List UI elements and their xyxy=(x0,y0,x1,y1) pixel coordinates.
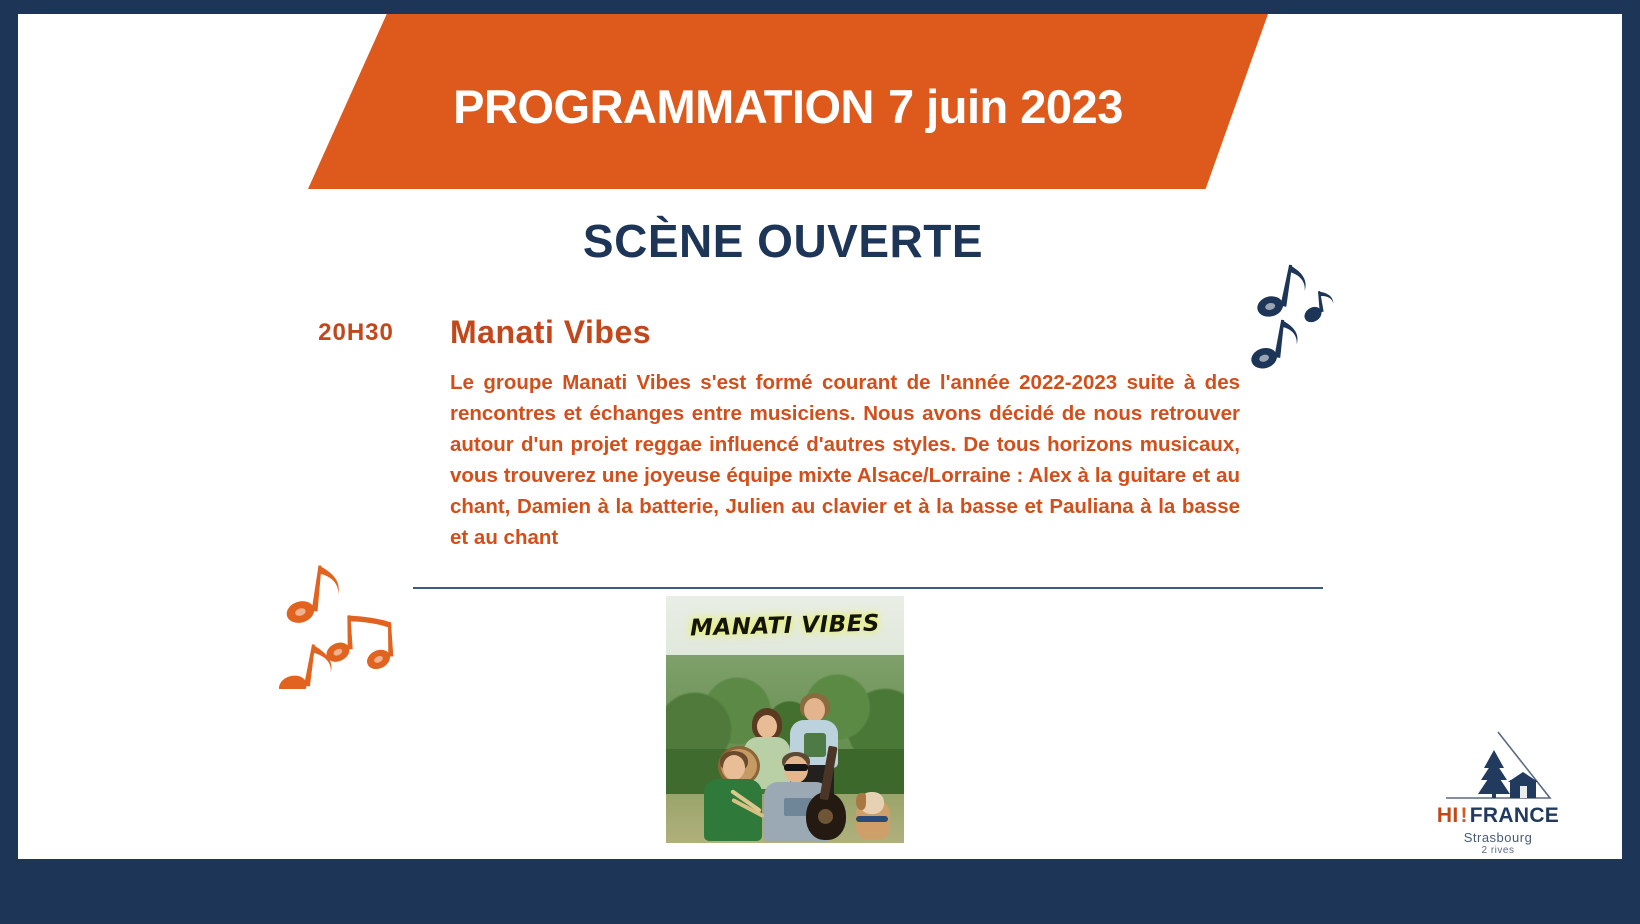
header-label: PROGRAMMATION xyxy=(453,79,874,134)
photo-sunglasses xyxy=(784,764,808,771)
music-notes-navy-icon xyxy=(1233,249,1353,379)
photo-person-green xyxy=(704,751,766,843)
photo-dog-ear xyxy=(856,793,866,810)
logo-bang: ! xyxy=(1461,804,1468,827)
logo-sub: 2 rives xyxy=(1408,845,1588,856)
logo-city: Strasbourg xyxy=(1408,830,1588,845)
header-banner-title: PROGRAMMATION 7 juin 2023 xyxy=(308,14,1268,189)
header-banner: PROGRAMMATION 7 juin 2023 xyxy=(308,14,1268,189)
slot-time: 20H30 xyxy=(266,319,446,347)
band-photo: MANATI VIBES xyxy=(666,596,904,843)
photo-dog-harness xyxy=(856,816,888,822)
poster-canvas: PROGRAMMATION 7 juin 2023 SCÈNE OUVERTE … xyxy=(18,14,1622,859)
logo-wordmark: HI!FRANCE xyxy=(1408,804,1588,828)
artist-bio: Le groupe Manati Vibes s'est formé coura… xyxy=(450,367,1240,553)
poster-root: PROGRAMMATION 7 juin 2023 SCÈNE OUVERTE … xyxy=(0,0,1640,924)
triangle-tree-house-icon xyxy=(1440,728,1556,802)
photo-guitar-soundhole xyxy=(818,809,833,824)
artist-name: Manati Vibes xyxy=(450,314,651,351)
logo-france: FRANCE xyxy=(1470,804,1559,827)
header-date: 7 juin 2023 xyxy=(888,79,1123,134)
divider xyxy=(413,587,1323,589)
logo-hi: HI xyxy=(1437,804,1459,827)
logo: HI!FRANCE Strasbourg 2 rives xyxy=(1408,728,1588,856)
music-notes-orange-icon xyxy=(273,549,403,689)
